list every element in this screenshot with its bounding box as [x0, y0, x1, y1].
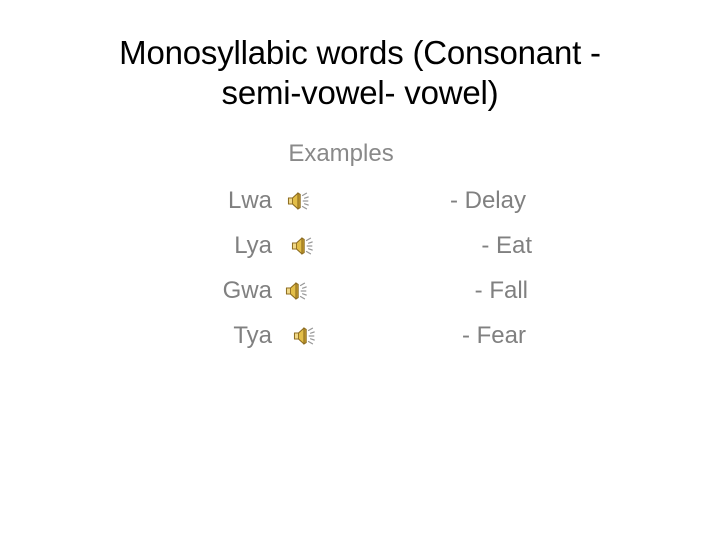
- example-audio-cell[interactable]: [272, 235, 338, 257]
- example-meaning: - Fall: [338, 277, 560, 305]
- example-meaning: - Eat: [338, 232, 560, 260]
- example-meaning: - Delay: [338, 187, 560, 215]
- example-row: Gwa: [160, 268, 560, 313]
- examples-heading: Examples: [160, 138, 560, 170]
- speaker-icon[interactable]: [292, 325, 318, 347]
- speaker-icon[interactable]: [284, 280, 310, 302]
- slide-title: Monosyllabic words (Consonant - semi-vow…: [30, 33, 690, 113]
- example-meaning: - Fear: [338, 322, 560, 350]
- example-row: Lwa: [160, 178, 560, 223]
- examples-list: Lwa: [160, 178, 560, 358]
- example-word: Tya: [160, 322, 272, 350]
- slide-canvas: Monosyllabic words (Consonant - semi-vow…: [0, 0, 720, 540]
- example-audio-cell[interactable]: [272, 325, 338, 347]
- example-row: Tya: [160, 313, 560, 358]
- example-word: Lya: [160, 232, 272, 260]
- example-word: Gwa: [160, 277, 272, 305]
- speaker-icon[interactable]: [286, 190, 312, 212]
- slide-title-line-1: Monosyllabic words (Consonant -: [30, 33, 690, 73]
- example-audio-cell[interactable]: [272, 190, 338, 212]
- example-row: Lya: [160, 223, 560, 268]
- slide-title-line-2: semi-vowel- vowel): [30, 73, 690, 113]
- speaker-icon[interactable]: [290, 235, 316, 257]
- examples-section: Examples Lwa: [160, 138, 560, 358]
- example-audio-cell[interactable]: [272, 280, 338, 302]
- example-word: Lwa: [160, 187, 272, 215]
